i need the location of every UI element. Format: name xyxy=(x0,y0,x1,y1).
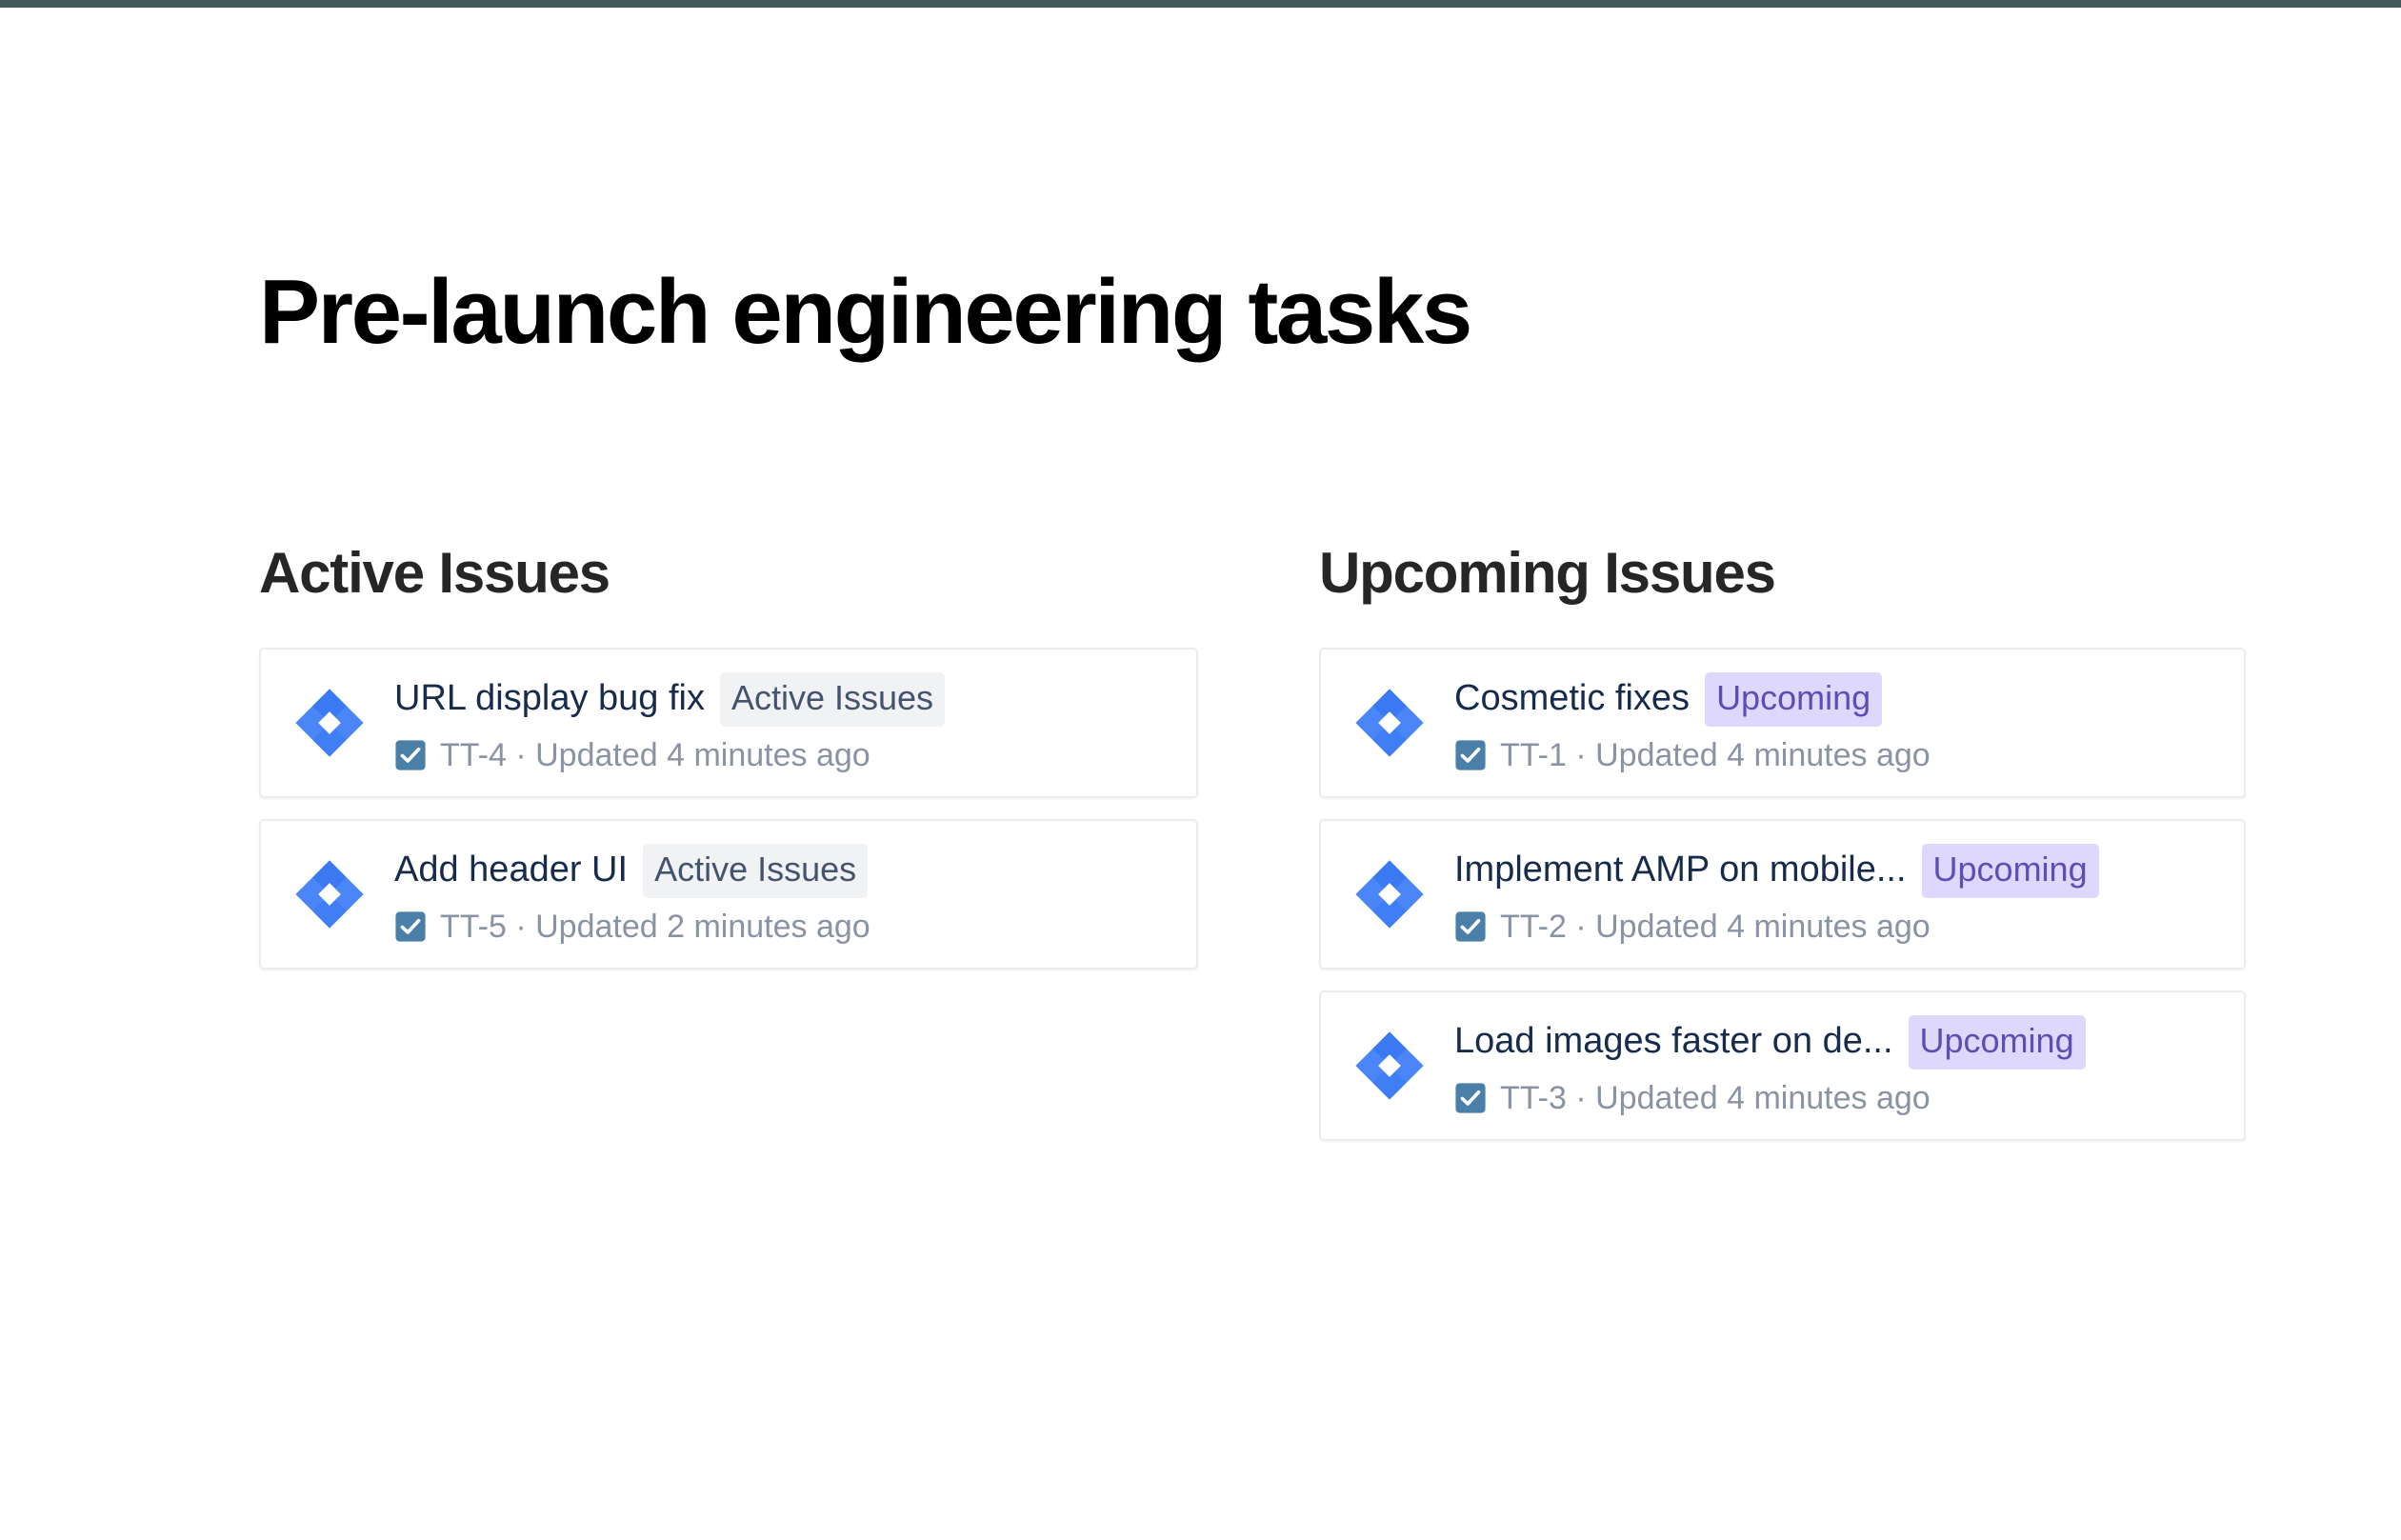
checkbox-checked-icon xyxy=(1454,910,1487,943)
issue-title[interactable]: Add header UI xyxy=(394,850,628,891)
checkbox-checked-icon xyxy=(394,910,427,943)
issue-card-body: Cosmetic fixes Upcoming TT-1 · Updated 4… xyxy=(1454,672,2219,773)
issue-meta: TT-5 · Updated 2 minutes ago xyxy=(440,910,870,945)
issue-card-body: Add header UI Active Issues TT-5 · Updat… xyxy=(394,844,1171,945)
status-badge: Upcoming xyxy=(1922,844,2099,898)
issue-meta-row: TT-3 · Updated 4 minutes ago xyxy=(1454,1081,2219,1116)
issue-columns: Active Issues URL display bug fix xyxy=(259,545,2401,1141)
column-heading-upcoming: Upcoming Issues xyxy=(1319,545,2271,602)
status-badge: Active Issues xyxy=(720,672,945,727)
issue-meta-row: TT-4 · Updated 4 minutes ago xyxy=(394,738,1171,773)
issue-card[interactable]: Load images faster on de... Upcoming TT-… xyxy=(1319,990,2246,1141)
jira-issue-icon xyxy=(1353,858,1426,930)
checkbox-checked-icon xyxy=(1454,1082,1487,1114)
issue-meta-row: TT-2 · Updated 4 minutes ago xyxy=(1454,910,2219,945)
issue-meta-row: TT-5 · Updated 2 minutes ago xyxy=(394,910,1171,945)
card-list-active: URL display bug fix Active Issues TT-4 ·… xyxy=(259,648,1319,970)
issue-meta: TT-1 · Updated 4 minutes ago xyxy=(1500,738,1931,773)
issue-title[interactable]: Cosmetic fixes xyxy=(1454,678,1690,720)
card-list-upcoming: Cosmetic fixes Upcoming TT-1 · Updated 4… xyxy=(1319,648,2271,1141)
jira-issue-icon xyxy=(1353,687,1426,759)
column-active-issues: Active Issues URL display bug fix xyxy=(259,545,1319,970)
page-content: Pre-launch engineering tasks Active Issu… xyxy=(0,0,2401,1141)
issue-card-body: Implement AMP on mobile... Upcoming TT-2… xyxy=(1454,844,2219,945)
column-upcoming-issues: Upcoming Issues Cosmetic fixes Up xyxy=(1319,545,2271,1141)
issue-title-row: URL display bug fix Active Issues xyxy=(394,672,1171,727)
column-heading-active: Active Issues xyxy=(259,545,1319,602)
jira-issue-icon xyxy=(293,687,366,759)
issue-card[interactable]: Implement AMP on mobile... Upcoming TT-2… xyxy=(1319,819,2246,970)
issue-card[interactable]: Cosmetic fixes Upcoming TT-1 · Updated 4… xyxy=(1319,648,2246,798)
status-badge: Upcoming xyxy=(1705,672,1882,727)
issue-meta-row: TT-1 · Updated 4 minutes ago xyxy=(1454,738,2219,773)
issue-title[interactable]: URL display bug fix xyxy=(394,678,705,720)
issue-meta: TT-3 · Updated 4 minutes ago xyxy=(1500,1081,1931,1116)
issue-card-body: URL display bug fix Active Issues TT-4 ·… xyxy=(394,672,1171,773)
issue-title[interactable]: Load images faster on de... xyxy=(1454,1021,1893,1063)
issue-meta: TT-4 · Updated 4 minutes ago xyxy=(440,738,870,773)
issue-meta: TT-2 · Updated 4 minutes ago xyxy=(1500,910,1931,945)
jira-issue-icon xyxy=(293,858,366,930)
issue-title-row: Implement AMP on mobile... Upcoming xyxy=(1454,844,2219,898)
page-root: Pre-launch engineering tasks Active Issu… xyxy=(0,0,2401,1540)
issue-card[interactable]: Add header UI Active Issues TT-5 · Updat… xyxy=(259,819,1198,970)
issue-title-row: Add header UI Active Issues xyxy=(394,844,1171,898)
status-badge: Active Issues xyxy=(643,844,868,898)
issue-title-row: Cosmetic fixes Upcoming xyxy=(1454,672,2219,727)
issue-title-row: Load images faster on de... Upcoming xyxy=(1454,1015,2219,1070)
checkbox-checked-icon xyxy=(394,739,427,771)
issue-card[interactable]: URL display bug fix Active Issues TT-4 ·… xyxy=(259,648,1198,798)
page-title: Pre-launch engineering tasks xyxy=(259,267,2401,358)
checkbox-checked-icon xyxy=(1454,739,1487,771)
issue-title[interactable]: Implement AMP on mobile... xyxy=(1454,850,1907,891)
jira-issue-icon xyxy=(1353,1030,1426,1102)
status-badge: Upcoming xyxy=(1909,1015,2086,1070)
issue-card-body: Load images faster on de... Upcoming TT-… xyxy=(1454,1015,2219,1116)
